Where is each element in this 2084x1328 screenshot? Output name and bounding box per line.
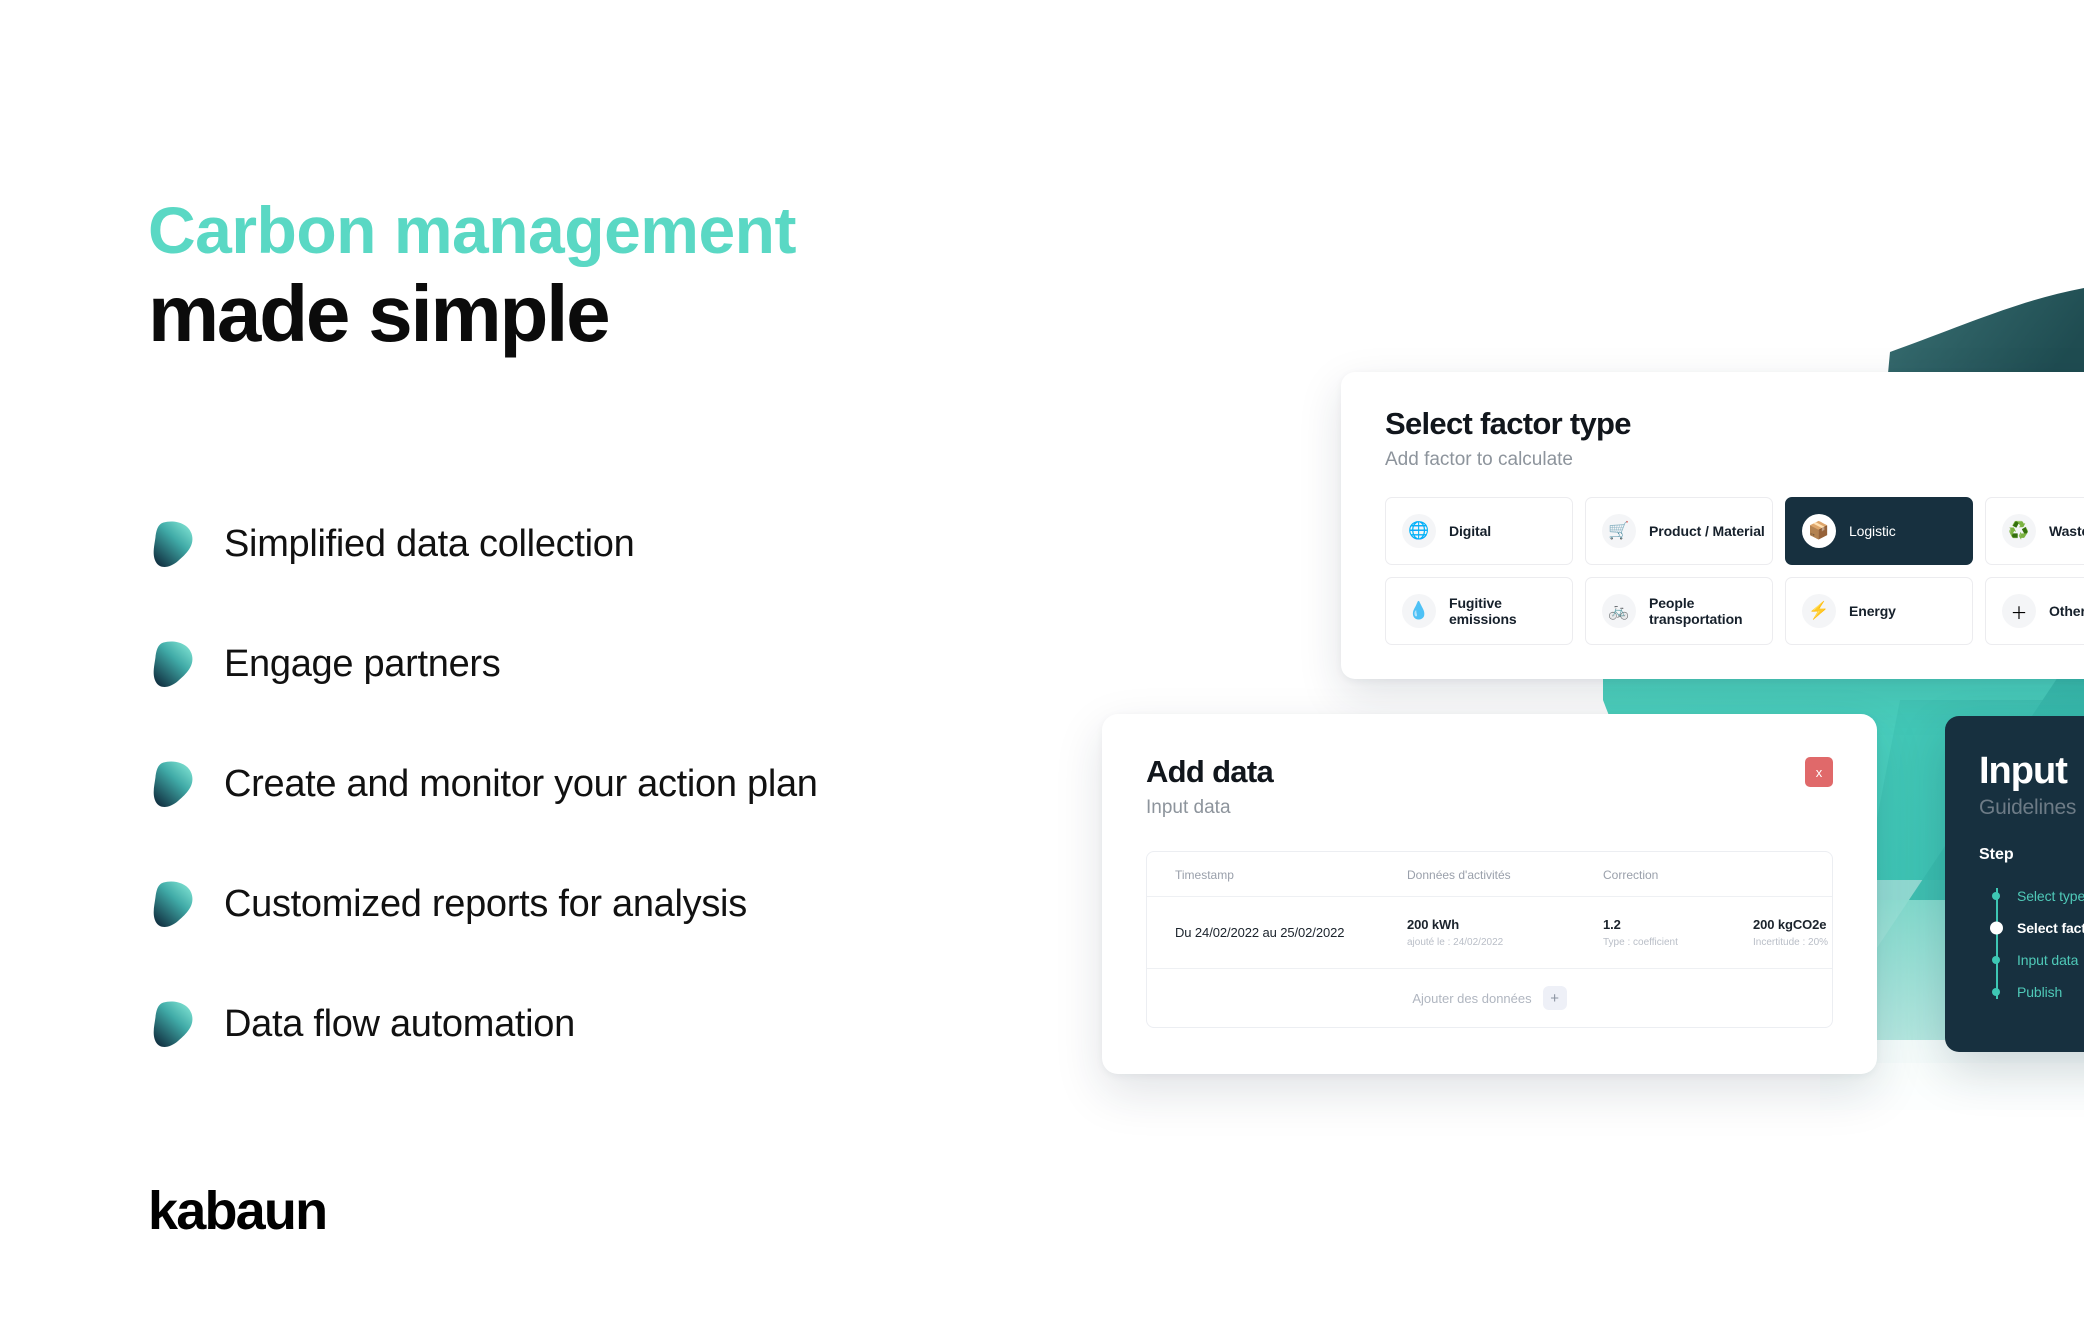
factor-tile-waste[interactable]: ♻️Waste	[1985, 497, 2084, 565]
step-list: Select typeSelect factorInput dataPublis…	[1991, 880, 2084, 1008]
factor-tile-label: Fugitive emissions	[1449, 595, 1572, 627]
factor-tile-label: Logistic	[1849, 523, 1896, 539]
factor-tile-label: Waste	[2049, 523, 2084, 539]
package-icon: 📦	[1802, 514, 1836, 548]
add-data-row[interactable]: Ajouter des données +	[1147, 969, 1832, 1027]
recycle-icon: ♻️	[2002, 514, 2036, 548]
add-data-row-label: Ajouter des données	[1412, 991, 1531, 1006]
feature-list: Simplified data collection Engage partne…	[148, 484, 1088, 1084]
factor-tile-label: Digital	[1449, 523, 1491, 539]
cell-correction: 1.2 Type : coefficient	[1575, 917, 1725, 948]
factor-tile-energy[interactable]: ⚡Energy	[1785, 577, 1973, 645]
plus-icon: ＋	[2002, 594, 2036, 628]
leaf-blob-icon	[148, 878, 200, 930]
table-row[interactable]: Du 24/02/2022 au 25/02/2022 200 kWh ajou…	[1147, 897, 1832, 969]
cell-timestamp: Du 24/02/2022 au 25/02/2022	[1147, 925, 1379, 940]
feature-label: Data flow automation	[224, 1003, 575, 1046]
feature-list-item: Engage partners	[148, 604, 1088, 724]
hero-headline: Carbon management made simple	[148, 195, 796, 358]
select-factor-type-card: Select factor type Add factor to calcula…	[1341, 372, 2084, 679]
lightning-bolt-icon: ⚡	[1802, 594, 1836, 628]
table-header-row: Timestamp Données d'activités Correction	[1147, 852, 1832, 897]
activity-data-table: Timestamp Données d'activités Correction…	[1146, 851, 1833, 1028]
feature-label: Create and monitor your action plan	[224, 763, 818, 806]
cell-activity-data: 200 kWh ajouté le : 24/02/2022	[1379, 917, 1575, 948]
column-header-activity-data: Données d'activités	[1379, 868, 1575, 882]
feature-list-item: Customized reports for analysis	[148, 844, 1088, 964]
factor-tile-label: People transportation	[1649, 595, 1772, 627]
step-item-publish[interactable]: Publish	[1991, 976, 2084, 1008]
factor-tile-product-material[interactable]: 🛒Product / Material	[1585, 497, 1773, 565]
cell-result-value: 200 kgCO2e	[1753, 917, 1833, 932]
step-label: Input data	[2017, 952, 2078, 968]
bicycle-icon: 🚲	[1602, 594, 1636, 628]
factor-tile-digital[interactable]: 🌐Digital	[1385, 497, 1573, 565]
leaf-blob-icon	[148, 998, 200, 1050]
hero-left-column: Carbon management made simple Simplified…	[148, 0, 1108, 1328]
feature-list-item: Create and monitor your action plan	[148, 724, 1088, 844]
factor-tile-logistic[interactable]: 📦Logistic	[1785, 497, 1973, 565]
feature-label: Engage partners	[224, 643, 500, 686]
headline-line-1: Carbon management	[148, 195, 796, 266]
step-item-input-data[interactable]: Input data	[1991, 944, 2084, 976]
droplet-icon: 💧	[1402, 594, 1436, 628]
add-data-card: Add data Input data x Timestamp Données …	[1102, 714, 1877, 1074]
add-data-title: Add data	[1146, 754, 1273, 790]
cell-activity-value: 200 kWh	[1407, 917, 1575, 932]
factor-tile-people-transportation[interactable]: 🚲People transportation	[1585, 577, 1773, 645]
globe-icon: 🌐	[1402, 514, 1436, 548]
step-dot-icon	[1992, 988, 2000, 996]
leaf-blob-icon	[148, 758, 200, 810]
step-dot-icon	[1992, 892, 2000, 900]
leaf-blob-icon	[148, 518, 200, 570]
close-icon[interactable]: x	[1805, 757, 1833, 787]
factor-tile-label: Energy	[1849, 603, 1896, 619]
plus-icon[interactable]: +	[1543, 986, 1567, 1010]
step-dot-icon	[1990, 922, 2003, 935]
input-guidelines-panel: Input Guidelines Step Select typeSelect …	[1945, 716, 2084, 1052]
brand-logo: kabaun	[148, 1180, 326, 1242]
cell-timestamp-value: Du 24/02/2022 au 25/02/2022	[1175, 925, 1379, 940]
step-item-select-type[interactable]: Select type	[1991, 880, 2084, 912]
panel-subtitle: Guidelines	[1979, 796, 2084, 820]
cell-correction-meta: Type : coefficient	[1603, 937, 1725, 948]
panel-title: Input	[1979, 752, 2084, 790]
step-label: Select factor	[2017, 920, 2084, 936]
card-subtitle: Add factor to calculate	[1385, 449, 2084, 471]
feature-label: Simplified data collection	[224, 523, 634, 566]
factor-tile-label: Other	[2049, 603, 2084, 619]
cell-result: 200 kgCO2e Incertitude : 20%	[1725, 917, 1833, 948]
shopping-cart-icon: 🛒	[1602, 514, 1636, 548]
column-header-timestamp: Timestamp	[1147, 868, 1379, 882]
step-item-select-factor[interactable]: Select factor	[1991, 912, 2084, 944]
factor-tile-fugitive-emissions[interactable]: 💧Fugitive emissions	[1385, 577, 1573, 645]
column-header-correction: Correction	[1575, 868, 1725, 882]
card-title: Select factor type	[1385, 406, 2084, 442]
factor-tile-other[interactable]: ＋Other	[1985, 577, 2084, 645]
cell-result-meta: Incertitude : 20%	[1753, 937, 1833, 948]
factor-tile-label: Product / Material	[1649, 523, 1765, 539]
steps-heading: Step	[1979, 846, 2084, 864]
feature-list-item: Data flow automation	[148, 964, 1088, 1084]
step-label: Select type	[2017, 888, 2084, 904]
step-dot-icon	[1992, 956, 2000, 964]
factor-type-grid: 🌐Digital🛒Product / Material📦Logistic♻️Wa…	[1385, 497, 2084, 645]
feature-label: Customized reports for analysis	[224, 883, 747, 926]
step-label: Publish	[2017, 984, 2062, 1000]
feature-list-item: Simplified data collection	[148, 484, 1088, 604]
cell-activity-meta: ajouté le : 24/02/2022	[1407, 937, 1575, 948]
add-data-subtitle: Input data	[1146, 797, 1273, 819]
leaf-blob-icon	[148, 638, 200, 690]
headline-line-2: made simple	[148, 270, 796, 358]
add-data-header: Add data Input data x	[1146, 754, 1833, 819]
cell-correction-value: 1.2	[1603, 917, 1725, 932]
